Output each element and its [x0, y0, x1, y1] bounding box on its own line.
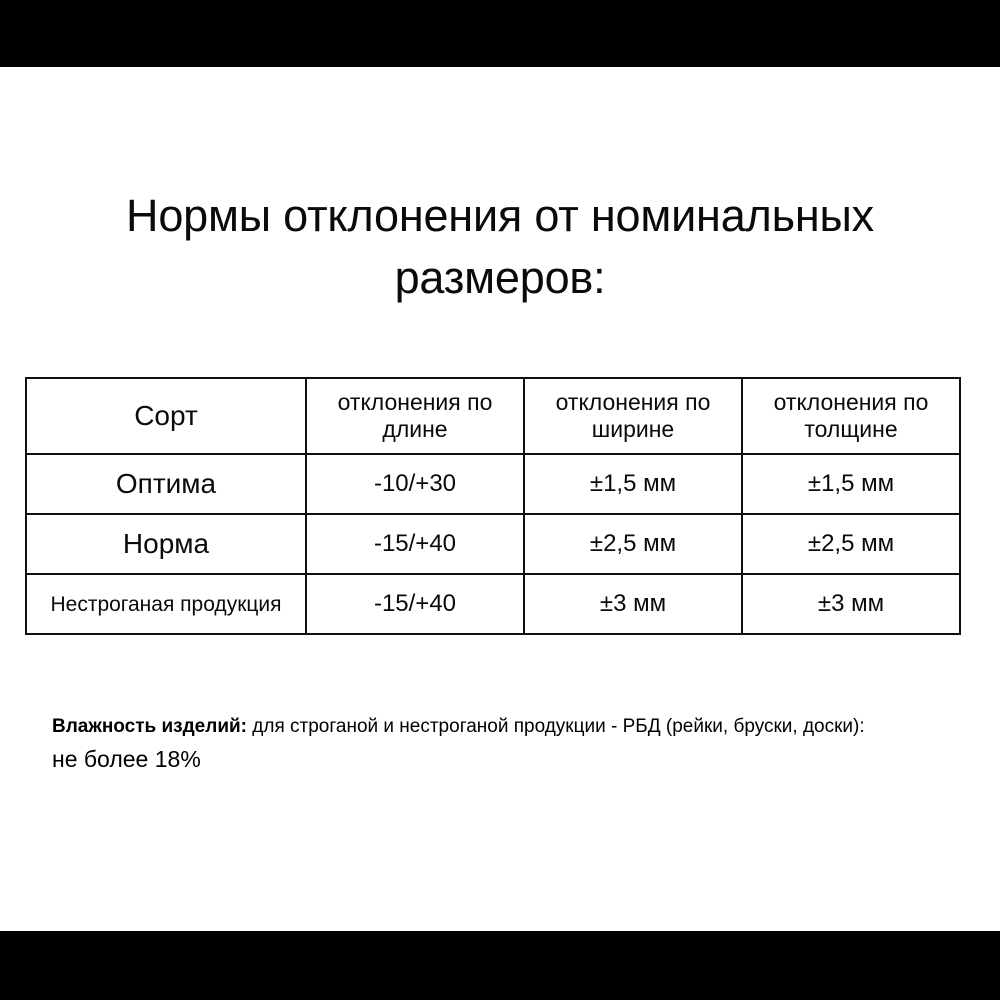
table-header-row: Сорт отклонения по длине отклонения по ш… — [26, 378, 960, 454]
cell-length-deviation: -10/+30 — [306, 454, 524, 514]
column-header-grade: Сорт — [26, 378, 306, 454]
cell-length-deviation: -15/+40 — [306, 514, 524, 574]
column-header-thickness-deviation: отклонения по толщине — [742, 378, 960, 454]
cell-thickness-deviation: ±3 мм — [742, 574, 960, 634]
cell-grade: Оптима — [26, 454, 306, 514]
cell-width-deviation: ±1,5 мм — [524, 454, 742, 514]
deviation-norms-table: Сорт отклонения по длине отклонения по ш… — [25, 377, 961, 635]
cell-width-deviation: ±3 мм — [524, 574, 742, 634]
table-row: Норма -15/+40 ±2,5 мм ±2,5 мм — [26, 514, 960, 574]
cell-grade: Норма — [26, 514, 306, 574]
footnote-line-1: Влажность изделий: для строганой и нестр… — [52, 712, 932, 742]
cell-thickness-deviation: ±1,5 мм — [742, 454, 960, 514]
cell-thickness-deviation: ±2,5 мм — [742, 514, 960, 574]
footnote-line-2: не более 18% — [52, 742, 932, 776]
letterbox-bottom-bar — [0, 931, 1000, 1000]
cell-length-deviation: -15/+40 — [306, 574, 524, 634]
table-row: Оптима -10/+30 ±1,5 мм ±1,5 мм — [26, 454, 960, 514]
footnote-label: Влажность изделий: — [52, 716, 247, 737]
cell-grade: Нестроганая продукция — [26, 574, 306, 634]
cell-width-deviation: ±2,5 мм — [524, 514, 742, 574]
page-title: Нормы отклонения от номинальных размеров… — [30, 185, 970, 309]
column-header-width-deviation: отклонения по ширине — [524, 378, 742, 454]
letterbox-top-bar — [0, 0, 1000, 67]
footnote-text: для строганой и нестроганой продукции - … — [247, 716, 865, 737]
table-row: Нестроганая продукция -15/+40 ±3 мм ±3 м… — [26, 574, 960, 634]
document-page: Нормы отклонения от номинальных размеров… — [0, 0, 1000, 1000]
footnote-block: Влажность изделий: для строганой и нестр… — [52, 712, 932, 776]
column-header-length-deviation: отклонения по длине — [306, 378, 524, 454]
